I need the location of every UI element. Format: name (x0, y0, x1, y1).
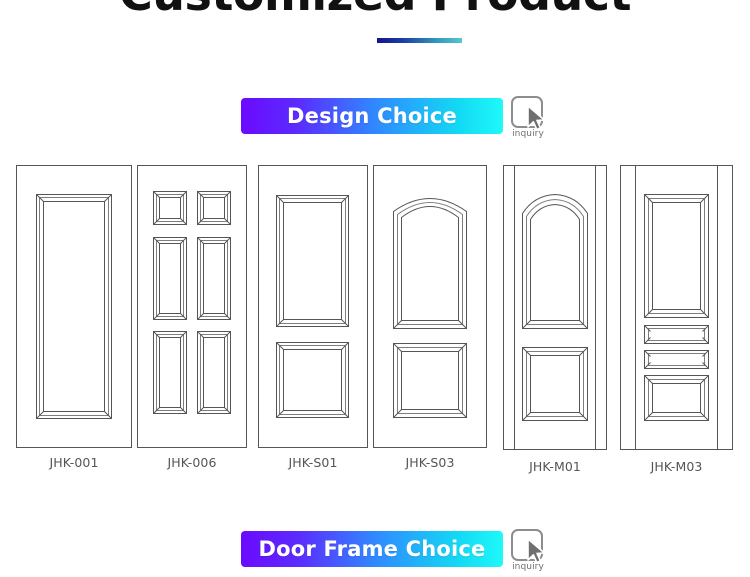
title-underline-accent (377, 38, 462, 43)
section-bar-door-frame-choice-label: Door Frame Choice (259, 537, 486, 561)
inquiry-box (511, 529, 543, 561)
door-label: JHK-S03 (373, 455, 487, 470)
door-figure-four-panel-stile (620, 165, 733, 450)
door-card-jhk-m03[interactable]: JHK-M03 (620, 165, 733, 474)
door-figure-single-panel (16, 165, 132, 448)
inquiry-button-door-frame-choice[interactable]: inquiry (511, 529, 545, 573)
section-bar-design-choice[interactable]: Design Choice (241, 98, 503, 134)
door-figure-cathedral-stile (503, 165, 607, 450)
cursor-arrow-icon (526, 538, 548, 564)
door-card-jhk-m01[interactable]: JHK-M01 (503, 165, 607, 474)
door-card-jhk-006[interactable]: JHK-006 (137, 165, 247, 470)
door-label: JHK-M01 (503, 459, 607, 474)
cursor-arrow-icon (526, 105, 548, 131)
door-label: JHK-001 (16, 455, 132, 470)
door-design-list: JHK-001 (0, 165, 750, 485)
door-figure-arch-two-panel (373, 165, 487, 448)
door-label: JHK-M03 (620, 459, 733, 474)
inquiry-label: inquiry (511, 563, 545, 573)
inquiry-label: inquiry (511, 130, 545, 140)
door-figure-two-panel (258, 165, 368, 448)
door-card-jhk-001[interactable]: JHK-001 (16, 165, 132, 470)
inquiry-box (511, 96, 543, 128)
door-label: JHK-S01 (258, 455, 368, 470)
section-bar-design-choice-label: Design Choice (287, 104, 457, 128)
door-label: JHK-006 (137, 455, 247, 470)
door-card-jhk-s01[interactable]: JHK-S01 (258, 165, 368, 470)
door-figure-six-panel (137, 165, 247, 448)
page-title: Customized Product (0, 0, 750, 18)
door-card-jhk-s03[interactable]: JHK-S03 (373, 165, 487, 470)
inquiry-button-design-choice[interactable]: inquiry (511, 96, 545, 140)
section-bar-door-frame-choice[interactable]: Door Frame Choice (241, 531, 503, 567)
